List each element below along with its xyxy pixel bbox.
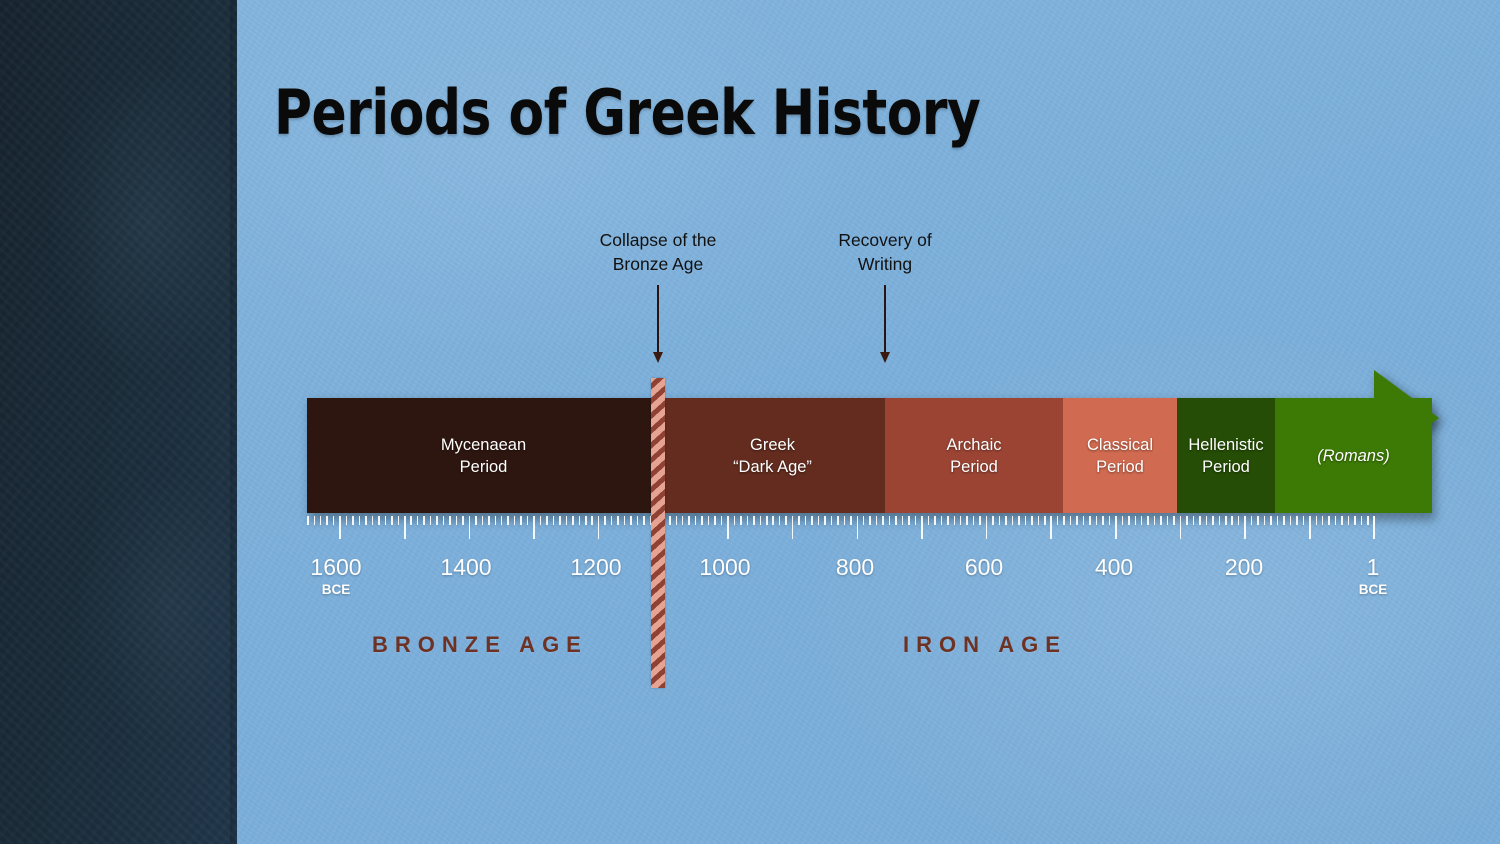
annotation-arrow-head-icon-collapse-of-bronze-age xyxy=(653,352,663,363)
bronze-age-label: BRONZE AGE xyxy=(372,632,588,658)
annotation-arrow-line-recovery-of-writing xyxy=(884,285,886,353)
timeline-segment-hellenistic-period: Hellenistic Period xyxy=(1177,398,1275,513)
sidebar-panel xyxy=(0,0,238,844)
timeline-segment-mycenaean-period: Mycenaean Period xyxy=(307,398,660,513)
timeline-segment-classical-period: Classical Period xyxy=(1063,398,1177,513)
annotation-label-collapse-of-bronze-age: Collapse of the Bronze Age xyxy=(548,228,768,276)
timeline-segment-greek-dark-age: Greek “Dark Age” xyxy=(660,398,885,513)
timeline-segment-romans: (Romans) xyxy=(1275,398,1432,513)
timeline-segment-archaic-period: Archaic Period xyxy=(885,398,1063,513)
bronze-iron-divider xyxy=(651,378,665,688)
annotation-arrow-line-collapse-of-bronze-age xyxy=(657,285,659,353)
annotation-arrow-head-icon-recovery-of-writing xyxy=(880,352,890,363)
iron-age-label: IRON AGE xyxy=(903,632,1067,658)
slide-canvas: Periods of Greek History Collapse of the… xyxy=(0,0,1500,844)
annotation-label-recovery-of-writing: Recovery of Writing xyxy=(775,228,995,276)
timeline-bar: Mycenaean PeriodGreek “Dark Age”Archaic … xyxy=(307,398,1432,513)
page-title: Periods of Greek History xyxy=(274,76,980,149)
